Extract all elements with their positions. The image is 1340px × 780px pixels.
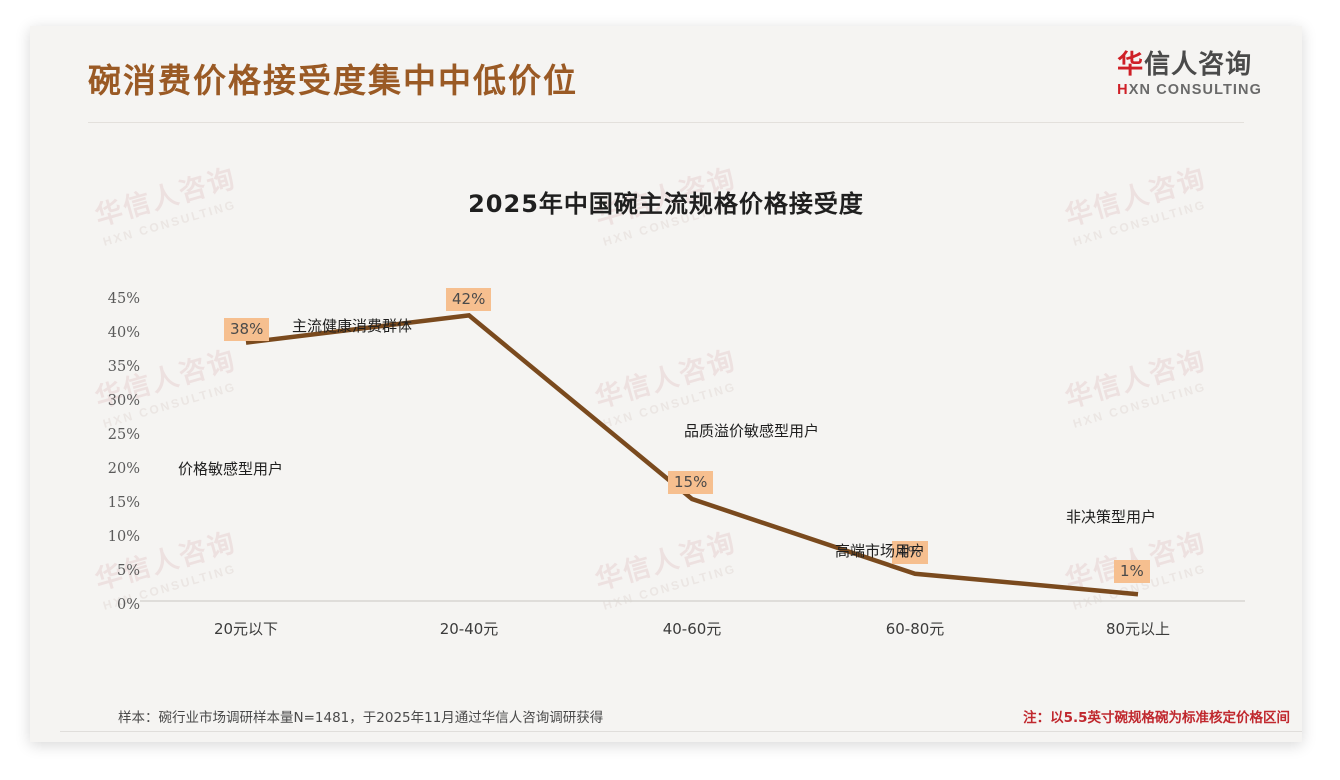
- chart-plot-area: 45% 40% 35% 30% 25% 20% 15% 10% 5% 0% 20…: [30, 26, 1302, 742]
- y-axis-label: 40%: [86, 325, 140, 341]
- x-axis-label: 40-60元: [612, 618, 772, 639]
- data-label: 42%: [446, 288, 491, 311]
- y-axis-label: 45%: [86, 291, 140, 307]
- x-axis-label: 20-40元: [389, 618, 549, 639]
- data-label: 1%: [1114, 560, 1150, 583]
- remark-note: 注：以5.5英寸碗规格碗为标准核定价格区间: [1023, 706, 1290, 726]
- brand-logo: 华信人咨询 HXN CONSULTING: [1117, 52, 1262, 98]
- annotation-non-decision: 非决策型用户: [1066, 506, 1156, 527]
- y-axis-label: 30%: [86, 393, 140, 409]
- logo-en-rest: XN CONSULTING: [1129, 82, 1262, 98]
- logo-chinese: 华信人咨询: [1117, 52, 1262, 79]
- x-axis-label: 80元以上: [1058, 618, 1218, 639]
- y-axis-label: 10%: [86, 529, 140, 545]
- slide-header: 碗消费价格接受度集中中低价位 华信人咨询 HXN CONSULTING: [30, 26, 1302, 126]
- x-axis-label: 60-80元: [835, 618, 995, 639]
- annotation-mainstream-health: 主流健康消费群体: [292, 315, 412, 336]
- logo-en-accent: H: [1117, 82, 1129, 98]
- y-axis-label: 5%: [86, 563, 140, 579]
- x-axis-label: 20元以下: [166, 618, 326, 639]
- annotation-price-sensitive: 价格敏感型用户: [178, 458, 283, 479]
- y-axis-label: 35%: [86, 359, 140, 375]
- y-axis-label: 15%: [86, 495, 140, 511]
- footer-divider: [60, 731, 1302, 732]
- y-axis-label: 0%: [86, 597, 140, 613]
- y-axis-label: 20%: [86, 461, 140, 477]
- slide-canvas: 华信人咨询 HXN CONSULTING 华信人咨询 HXN CONSULTIN…: [30, 26, 1302, 742]
- logo-rest-chars: 信人咨询: [1144, 50, 1252, 80]
- annotation-quality-premium: 品质溢价敏感型用户: [684, 420, 819, 441]
- data-label: 38%: [224, 318, 269, 341]
- data-label: 15%: [668, 471, 713, 494]
- page-title: 碗消费价格接受度集中中低价位: [88, 54, 578, 102]
- y-axis-label: 25%: [86, 427, 140, 443]
- logo-accent-char: 华: [1117, 50, 1144, 80]
- logo-english: HXN CONSULTING: [1117, 82, 1262, 98]
- screenshot-root: 华信人咨询 HXN CONSULTING 华信人咨询 HXN CONSULTIN…: [0, 0, 1340, 780]
- chart-title: 2025年中国碗主流规格价格接受度: [30, 184, 1302, 219]
- header-divider: [88, 122, 1244, 123]
- series-line: [246, 315, 1138, 594]
- annotation-premium-market: 高端市场用户: [835, 540, 925, 561]
- sample-note: 样本：碗行业市场调研样本量N=1481，于2025年11月通过华信人咨询调研获得: [118, 706, 603, 726]
